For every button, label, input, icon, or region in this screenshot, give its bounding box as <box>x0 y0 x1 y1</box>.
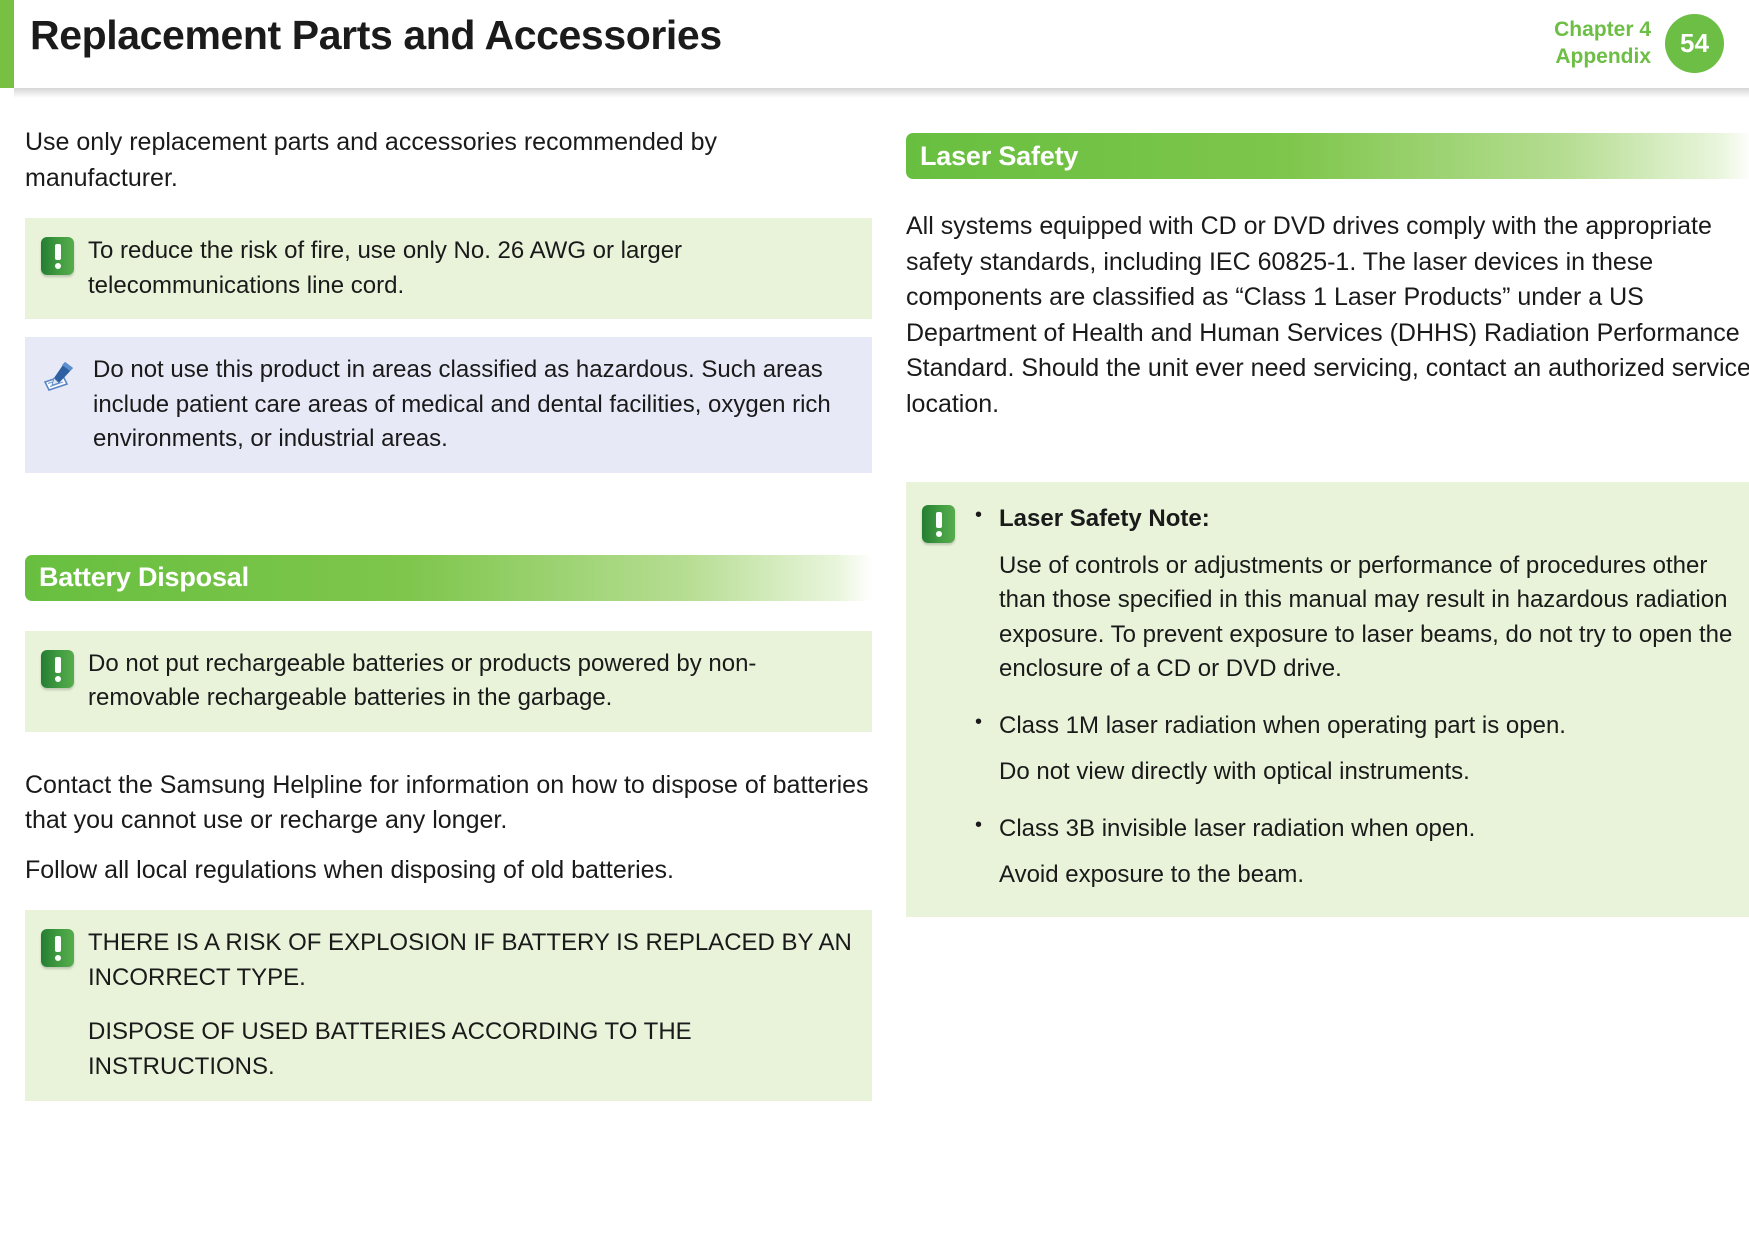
chapter-label-group: Chapter 4 Appendix <box>1554 17 1651 71</box>
laser-note-body: Use of controls or adjustments or perfor… <box>999 549 1735 687</box>
left-column: Use only replacement parts and accessori… <box>25 125 872 1119</box>
laser-note-class3b-line2: Avoid exposure to the beam. <box>999 858 1735 893</box>
list-item: Class 1M laser radiation when operating … <box>969 709 1735 790</box>
section-label: Appendix <box>1554 44 1651 71</box>
note-pencil-icon <box>41 356 79 394</box>
laser-note-class1m-line1: Class 1M laser radiation when operating … <box>999 712 1566 739</box>
callout-text-line1: THERE IS A RISK OF EXPLOSION IF BATTERY … <box>88 926 854 995</box>
laser-note-class1m-line2: Do not view directly with optical instru… <box>999 755 1735 790</box>
callout-laser-safety-note: Laser Safety Note: Use of controls or ad… <box>906 482 1749 917</box>
section-title: Laser Safety <box>906 141 1078 172</box>
callout-warning-fire: To reduce the risk of fire, use only No.… <box>25 218 872 319</box>
section-heading-battery-disposal: Battery Disposal <box>25 555 872 601</box>
paragraph-regulations: Follow all local regulations when dispos… <box>25 853 872 889</box>
header-accent-bar <box>0 0 14 88</box>
warning-icon <box>41 237 74 275</box>
chapter-label: Chapter 4 <box>1554 17 1651 44</box>
laser-note-list: Laser Safety Note: Use of controls or ad… <box>969 502 1735 893</box>
callout-warning-batteries: Do not put rechargeable batteries or pro… <box>25 631 872 732</box>
warning-icon <box>922 505 955 543</box>
callout-note-hazardous: Do not use this product in areas classif… <box>25 337 872 473</box>
page-header: Replacement Parts and Accessories Chapte… <box>0 0 1749 97</box>
laser-paragraph: All systems equipped with CD or DVD driv… <box>906 209 1749 422</box>
right-column: Laser Safety All systems equipped with C… <box>906 125 1749 1119</box>
warning-icon <box>41 650 74 688</box>
page-number-badge: 54 <box>1665 14 1724 73</box>
laser-note-class3b-line1: Class 3B invisible laser radiation when … <box>999 815 1475 842</box>
callout-text-line2: DISPOSE OF USED BATTERIES ACCORDING TO T… <box>88 1015 854 1084</box>
callout-text: To reduce the risk of fire, use only No.… <box>88 234 854 303</box>
page-title: Replacement Parts and Accessories <box>30 12 722 59</box>
intro-paragraph: Use only replacement parts and accessori… <box>25 125 872 196</box>
paragraph-helpline: Contact the Samsung Helpline for informa… <box>25 768 872 839</box>
section-title: Battery Disposal <box>25 562 249 593</box>
list-item: Laser Safety Note: Use of controls or ad… <box>969 502 1735 687</box>
laser-note-title: Laser Safety Note: <box>999 502 1735 537</box>
callout-text: Do not put rechargeable batteries or pro… <box>88 647 854 716</box>
callout-text: Do not use this product in areas classif… <box>93 353 854 457</box>
callout-warning-explosion: THERE IS A RISK OF EXPLOSION IF BATTERY … <box>25 910 872 1100</box>
warning-icon <box>41 929 74 967</box>
list-item: Class 3B invisible laser radiation when … <box>969 812 1735 893</box>
header-meta: Chapter 4 Appendix 54 <box>1554 14 1724 73</box>
section-heading-laser-safety: Laser Safety <box>906 133 1749 179</box>
page-content: Use only replacement parts and accessori… <box>0 97 1749 1119</box>
